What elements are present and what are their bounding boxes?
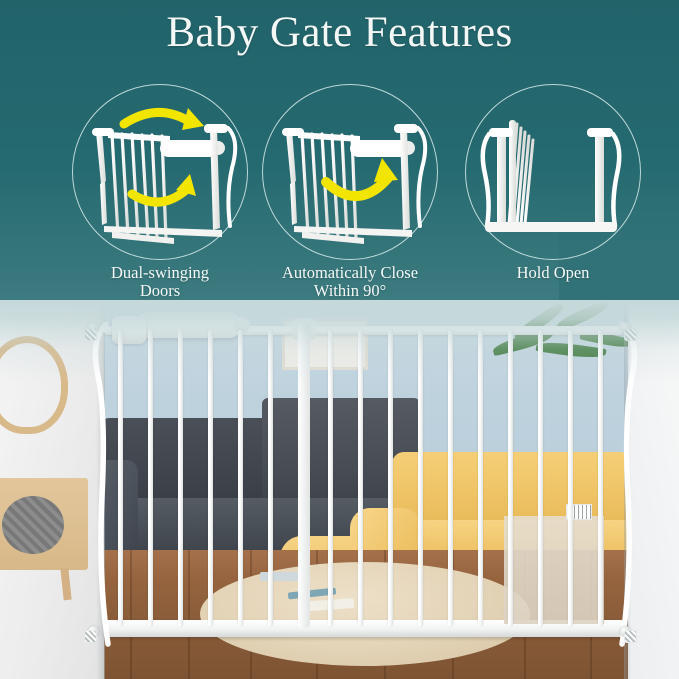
cabinet-rattan-panel [2, 496, 64, 554]
feature-item-dual-swinging-doors[interactable]: Dual-swinging Doors [62, 84, 258, 299]
white-baby-gate[interactable] [96, 308, 632, 674]
gate-right-extension-panel [504, 516, 604, 624]
feature-caption-2-line1: Automatically Close [236, 264, 464, 282]
feature-caption-3-line1: Hold Open [439, 264, 667, 282]
gate-center-post [298, 322, 310, 628]
feature-row: Dual-swinging Doors [0, 84, 679, 299]
gate-adjust-knob[interactable] [84, 328, 97, 341]
gate-left-mount-frame [82, 314, 122, 654]
feature-caption-2: Automatically Close Within 90° [236, 264, 464, 300]
feature-caption-2-line2: Within 90° [236, 282, 464, 300]
feature-item-hold-open[interactable]: Hold Open [455, 84, 651, 299]
feature-item-automatically-close[interactable]: Automatically Close Within 90° [252, 84, 448, 299]
gate-auto-close-icon [252, 84, 448, 260]
gate-right-mount-frame [606, 314, 650, 654]
gate-adjust-knob[interactable] [84, 630, 97, 643]
feature-caption-3: Hold Open [439, 264, 667, 282]
gate-adjust-knob[interactable] [624, 328, 637, 341]
product-scene-photo [0, 300, 679, 679]
gate-hold-open-icon [455, 84, 651, 260]
page-title: Baby Gate Features [0, 8, 679, 57]
gate-dual-swing-icon [62, 84, 258, 260]
gate-adjust-knob[interactable] [624, 630, 637, 643]
product-feature-image: Baby Gate Features [0, 0, 679, 679]
